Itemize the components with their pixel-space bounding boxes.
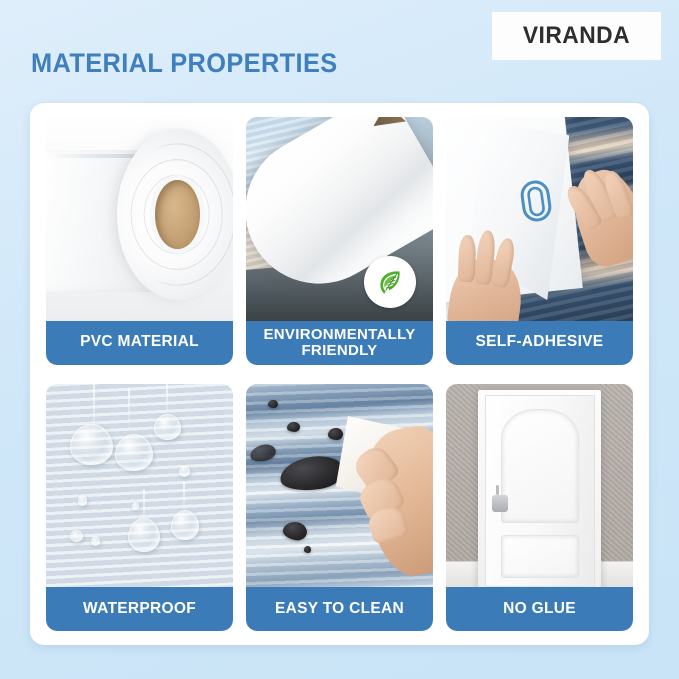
leaf-icon [374,266,406,298]
water-droplet [70,424,113,465]
feature-card-no-glue[interactable]: NO GLUE [446,384,633,632]
feature-label-environmentally-friendly: ENVIRONMENTALLY FRIENDLY [246,321,433,365]
paperclip-icon [514,176,558,227]
page-header: MATERIAL PROPERTIES VIRANDA [0,0,679,103]
wall-right [599,384,633,588]
wall-left [446,384,480,588]
feature-label-self-adhesive: SELF-ADHESIVE [446,321,633,365]
feature-card-environmentally-friendly[interactable]: ENVIRONMENTALLY FRIENDLY [246,117,433,365]
no-glue-door-image [446,384,633,588]
feature-label-waterproof: WATERPROOF [46,587,233,631]
waterproof-image [46,384,233,588]
content-panel: PVC MATERIAL [30,103,649,645]
brand-name: VIRANDA [523,22,630,50]
paperclip-badge [514,176,558,227]
easy-to-clean-image [246,384,433,588]
feature-card-easy-to-clean[interactable]: EASY TO CLEAN [246,384,433,632]
door-frame [478,390,601,587]
feature-card-self-adhesive[interactable]: SELF-ADHESIVE [446,117,633,365]
water-droplet [115,434,152,471]
pvc-roll-image [46,117,233,321]
stain-mark [268,400,277,408]
door-handle-icon [492,495,508,512]
water-droplet [128,518,160,553]
feature-card-waterproof[interactable]: WATERPROOF [46,384,233,632]
feature-card-grid: PVC MATERIAL [46,117,633,631]
label-line-2: FRIENDLY [301,342,377,359]
page-title: MATERIAL PROPERTIES [31,48,338,79]
feature-card-pvc-material[interactable]: PVC MATERIAL [46,117,233,365]
water-droplet [179,465,190,477]
feature-label-no-glue: NO GLUE [446,587,633,631]
brand-logo-box: VIRANDA [492,12,661,60]
self-adhesive-image [446,117,633,321]
roll-core [155,180,199,248]
water-droplet [78,495,87,505]
feature-label-pvc-material: PVC MATERIAL [46,321,233,365]
label-line-1: ENVIRONMENTALLY [263,326,415,343]
water-droplet [154,414,180,440]
eco-roll-image [246,117,433,321]
door [485,395,595,587]
feature-label-easy-to-clean: EASY TO CLEAN [246,587,433,631]
